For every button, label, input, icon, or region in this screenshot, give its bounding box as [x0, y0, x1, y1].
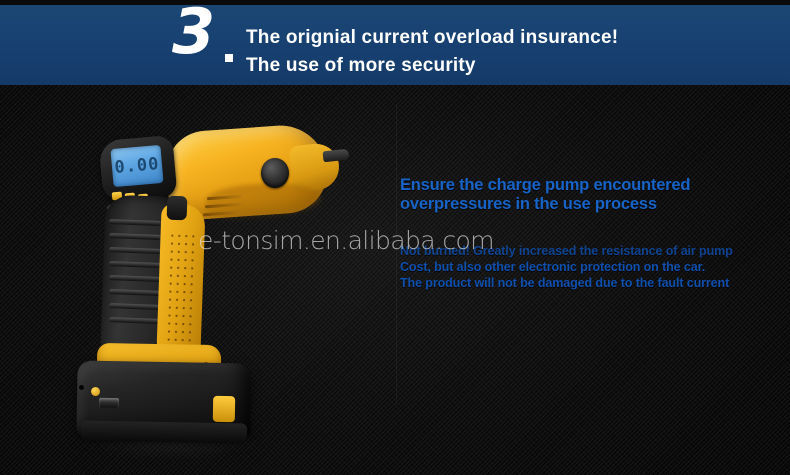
handle-perforations: [165, 232, 199, 345]
pump-trigger: [167, 196, 188, 221]
step-number: 3: [172, 1, 214, 63]
battery-usb-port: [99, 398, 119, 408]
headline-group: The orignial current overload insurance!…: [246, 24, 766, 80]
headline-line-1: The orignial current overload insurance!: [246, 24, 766, 52]
body-copy-line-1: Not burned! Greatly increased the resist…: [400, 243, 780, 259]
product-feature-banner: 3 The orignial current overload insuranc…: [0, 0, 790, 475]
pump-rubber-button: [261, 158, 289, 188]
body-copy-line-3: The product will not be damaged due to t…: [400, 275, 780, 291]
headline-line-2: The use of more security: [246, 52, 766, 80]
step-number-dot: [225, 54, 233, 62]
subhead-line-2: overpressures in the use process: [400, 195, 780, 214]
body-copy-block: Not burned! Greatly increased the resist…: [400, 243, 780, 291]
body-copy-line-2: Cost, but also other electronic protecti…: [400, 259, 780, 275]
feature-copy-block: Ensure the charge pump encountered overp…: [400, 176, 780, 291]
battery-pack-base: [81, 421, 247, 444]
battery-pinhole: [79, 385, 84, 390]
lcd-screen: 0.00: [110, 145, 163, 187]
top-black-rule: [0, 0, 790, 5]
product-photo-air-pump: 0.00: [55, 100, 315, 445]
battery-release-latch: [213, 396, 235, 422]
background-seam-divider: [396, 104, 397, 404]
subhead-line-1: Ensure the charge pump encountered: [400, 176, 780, 195]
header-banner: 3 The orignial current overload insuranc…: [0, 5, 790, 85]
lcd-reading: 0.00: [110, 145, 163, 187]
header-banner-inner: 3 The orignial current overload insuranc…: [0, 5, 790, 85]
